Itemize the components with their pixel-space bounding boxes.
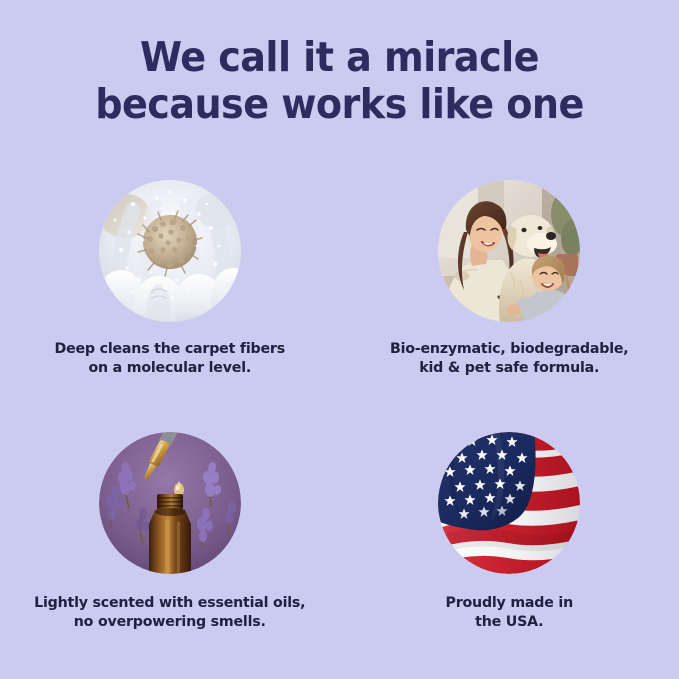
infographic-page: We call it a miracle because works like … bbox=[0, 0, 679, 679]
feature-grid: Deep cleans the carpet fibers on a molec… bbox=[0, 180, 679, 632]
family-with-dog-photo bbox=[438, 180, 580, 322]
headline-line-2: because works like one bbox=[24, 81, 655, 128]
feature-item-pet-safe: Bio-enzymatic, biodegradable, kid & pet … bbox=[340, 180, 679, 378]
feature-row-bottom: Lightly scented with essential oils, no … bbox=[0, 432, 679, 632]
page-title: We call it a miracle because works like … bbox=[24, 34, 655, 128]
essential-oil-lavender-photo bbox=[99, 432, 241, 574]
feature-item-lightly-scented: Lightly scented with essential oils, no … bbox=[0, 432, 340, 632]
feature-caption-pet-safe: Bio-enzymatic, biodegradable, kid & pet … bbox=[390, 340, 629, 378]
feature-item-made-in-usa: Proudly made in the USA. bbox=[340, 432, 679, 632]
feature-item-deep-clean: Deep cleans the carpet fibers on a molec… bbox=[0, 180, 340, 378]
feature-caption-lightly-scented: Lightly scented with essential oils, no … bbox=[34, 594, 305, 632]
american-flag-photo bbox=[438, 432, 580, 574]
feature-caption-made-in-usa: Proudly made in the USA. bbox=[446, 594, 574, 632]
carpet-fibers-molecule-photo bbox=[99, 180, 241, 322]
feature-row-top: Deep cleans the carpet fibers on a molec… bbox=[0, 180, 679, 378]
headline-line-1: We call it a miracle bbox=[24, 34, 655, 81]
feature-caption-deep-clean: Deep cleans the carpet fibers on a molec… bbox=[55, 340, 285, 378]
